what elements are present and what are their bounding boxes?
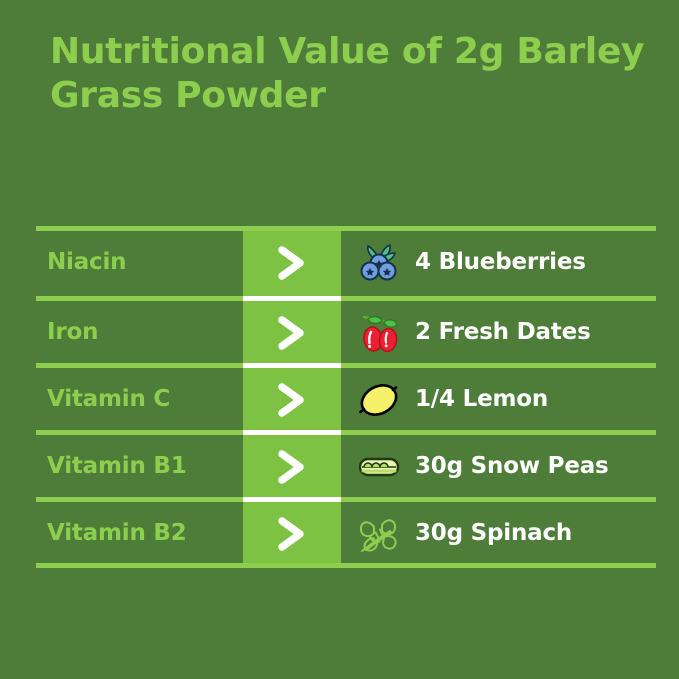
blueberries-icon xyxy=(353,240,405,286)
greater-than-icon xyxy=(269,511,315,557)
comparator-cell xyxy=(243,511,341,557)
nutrient-label: Vitamin C xyxy=(36,388,243,411)
nutrient-label: Vitamin B2 xyxy=(36,522,243,545)
equivalent-label: 4 Blueberries xyxy=(415,251,586,274)
snow-peas-icon xyxy=(353,444,405,490)
comparator-cell xyxy=(243,444,341,490)
greater-than-icon xyxy=(269,240,315,286)
table-row: Vitamin B2 xyxy=(36,500,656,567)
table-row: Niacin xyxy=(36,229,656,296)
comparator-cell xyxy=(243,377,341,423)
greater-than-icon xyxy=(269,310,315,356)
equivalent-cell: 30g Snow Peas xyxy=(341,444,656,490)
equivalent-cell: 4 Blueberries xyxy=(341,240,656,286)
spinach-icon xyxy=(353,511,405,557)
equivalent-cell: 1/4 Lemon xyxy=(341,377,656,423)
table-rows: Niacin xyxy=(36,226,656,566)
equivalent-label: 2 Fresh Dates xyxy=(415,321,591,344)
equivalent-label: 30g Snow Peas xyxy=(415,455,609,478)
nutrient-label: Niacin xyxy=(36,251,243,274)
greater-than-icon xyxy=(269,444,315,490)
comparator-cell xyxy=(243,240,341,286)
lemon-icon xyxy=(353,377,405,423)
nutrient-label: Vitamin B1 xyxy=(36,455,243,478)
table-row: Iron xyxy=(36,299,656,366)
row-divider-bottom xyxy=(36,563,656,568)
comparison-table: Niacin xyxy=(36,226,656,566)
nutrition-infographic: Nutritional Value of 2g Barley Grass Pow… xyxy=(0,0,679,679)
greater-than-icon xyxy=(269,377,315,423)
page-title: Nutritional Value of 2g Barley Grass Pow… xyxy=(50,30,650,118)
table-row: Vitamin B1 xyxy=(36,433,656,500)
equivalent-cell: 2 Fresh Dates xyxy=(341,310,656,356)
nutrient-label: Iron xyxy=(36,321,243,344)
fresh-dates-icon xyxy=(353,310,405,356)
comparator-cell xyxy=(243,310,341,356)
table-row: Vitamin C 1/4 Lemon xyxy=(36,366,656,433)
equivalent-label: 30g Spinach xyxy=(415,522,572,545)
equivalent-cell: 30g Spinach xyxy=(341,511,656,557)
equivalent-label: 1/4 Lemon xyxy=(415,388,548,411)
